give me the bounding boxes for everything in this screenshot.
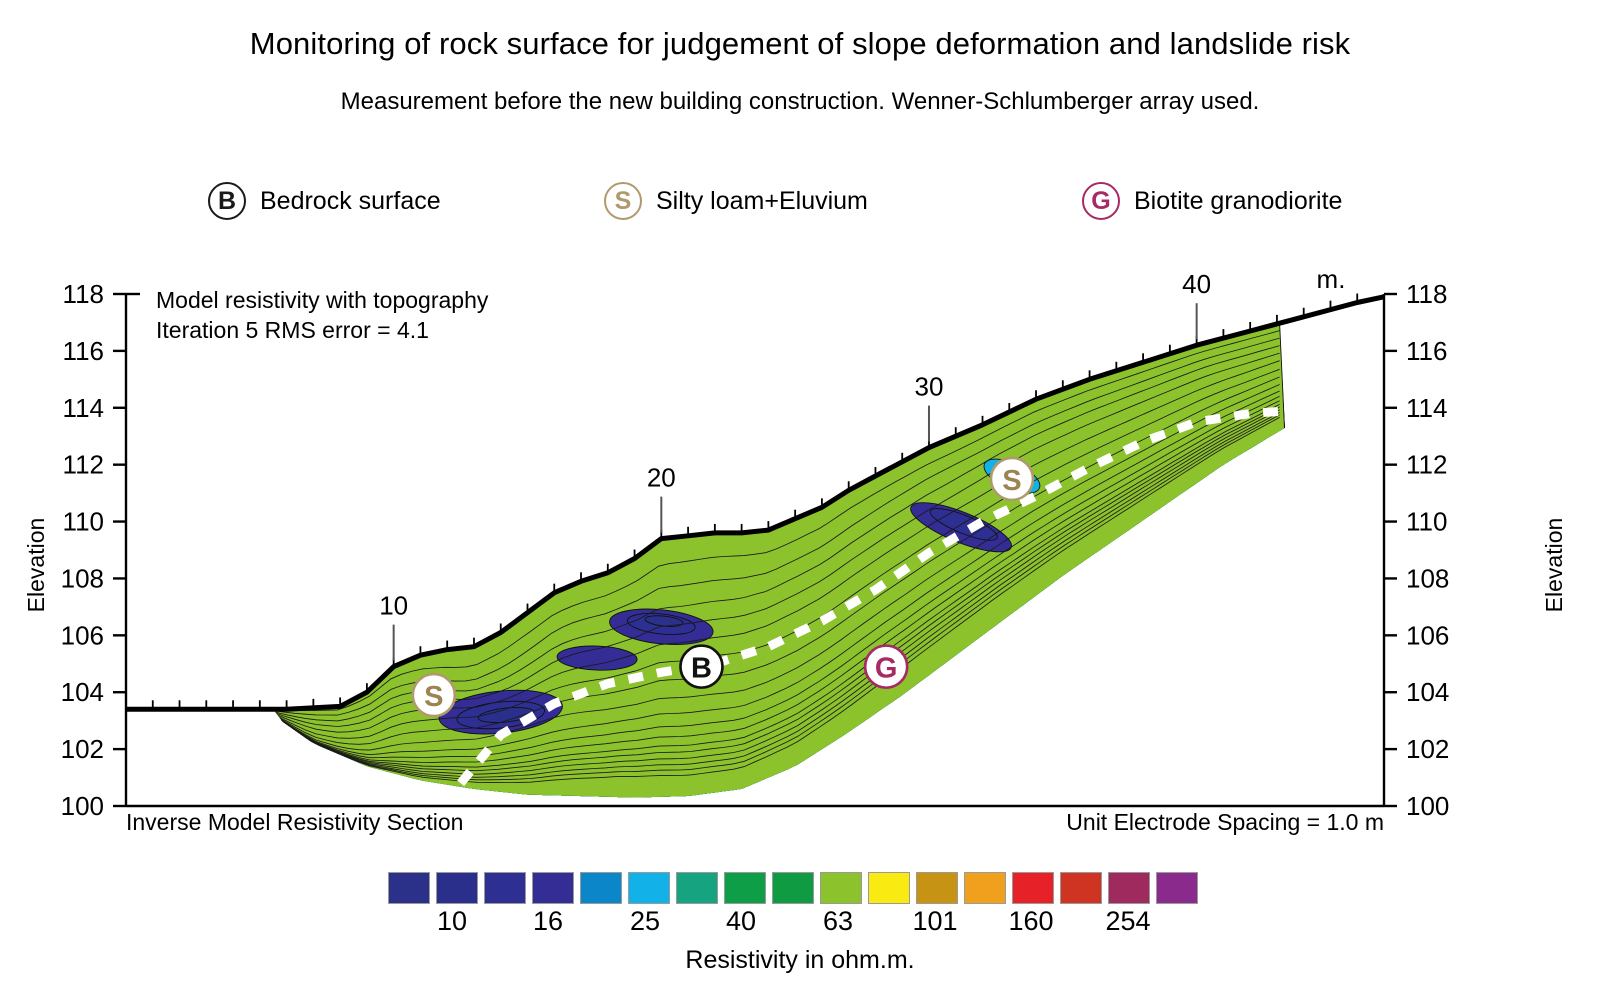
legend-label-silty-loam: Silty loam+Eluvium bbox=[656, 187, 868, 216]
colorbar-swatches bbox=[388, 872, 1198, 904]
colorbar-swatch bbox=[1156, 872, 1198, 904]
annotation-marker-letter: S bbox=[1002, 465, 1021, 497]
colorbar-swatch bbox=[436, 872, 478, 904]
legend: B Bedrock surface S Silty loam+Eluvium G… bbox=[0, 182, 1600, 244]
y-tick-label-left: 112 bbox=[63, 450, 104, 480]
axis-title-left: Elevation bbox=[23, 518, 49, 613]
resistivity-band bbox=[265, 323, 1285, 809]
y-tick-label-left: 114 bbox=[63, 393, 104, 423]
distance-tick-label: 20 bbox=[647, 463, 676, 493]
colorbar-caption: Resistivity in ohm.m. bbox=[0, 946, 1600, 975]
annotation-marker-s: S bbox=[991, 458, 1033, 500]
y-tick-label-right: 106 bbox=[1406, 620, 1449, 650]
figure-root: Monitoring of rock surface for judgement… bbox=[0, 0, 1600, 997]
y-tick-label-left: 100 bbox=[61, 791, 104, 821]
y-tick-label-right: 100 bbox=[1406, 791, 1449, 821]
colorbar-swatch bbox=[772, 872, 814, 904]
y-tick-label-right: 102 bbox=[1406, 734, 1449, 764]
colorbar-tick-label: 40 bbox=[696, 906, 786, 937]
colorbar-tick-label: 10 bbox=[407, 906, 497, 937]
y-tick-label-right: 116 bbox=[1406, 336, 1447, 366]
annotation-marker-letter: S bbox=[424, 681, 443, 713]
colorbar-swatch bbox=[724, 872, 766, 904]
y-tick-label-right: 112 bbox=[1406, 450, 1447, 480]
distance-unit-label: m. bbox=[1317, 264, 1346, 294]
colorbar-swatch bbox=[676, 872, 718, 904]
legend-item-bedrock: B Bedrock surface bbox=[208, 182, 441, 220]
colorbar-swatch bbox=[532, 872, 574, 904]
model-bands bbox=[265, 323, 1285, 809]
footer-left-label: Inverse Model Resistivity Section bbox=[126, 809, 463, 835]
silty-loam-marker-letter: S bbox=[615, 187, 632, 216]
distance-tick-label: 40 bbox=[1182, 269, 1211, 299]
colorbar-swatch bbox=[1108, 872, 1150, 904]
colorbar-tick-label: 254 bbox=[1083, 906, 1173, 937]
annotation-marker-b: B bbox=[680, 646, 722, 688]
colorbar-swatch bbox=[484, 872, 526, 904]
y-tick-label-right: 104 bbox=[1406, 677, 1449, 707]
colorbar-swatch bbox=[628, 872, 670, 904]
legend-item-silty-loam: S Silty loam+Eluvium bbox=[604, 182, 868, 220]
colorbar-tick-labels: 1016254063101160254 bbox=[388, 906, 1178, 940]
y-tick-label-right: 110 bbox=[1406, 507, 1447, 537]
granodiorite-marker-icon: G bbox=[1082, 182, 1120, 220]
distance-tick-label: 30 bbox=[915, 372, 944, 402]
section-svg: 10203040 1001001021021041041061061081081… bbox=[0, 258, 1600, 838]
model-info-line2: Iteration 5 RMS error = 4.1 bbox=[156, 317, 429, 343]
distance-tick-label: 10 bbox=[379, 591, 408, 621]
colorbar-tick-label: 25 bbox=[600, 906, 690, 937]
y-tick-label-left: 110 bbox=[63, 507, 104, 537]
colorbar-swatch bbox=[1012, 872, 1054, 904]
colorbar-swatch bbox=[964, 872, 1006, 904]
colorbar-tick-label: 16 bbox=[503, 906, 593, 937]
y-tick-label-left: 102 bbox=[61, 734, 104, 764]
colorbar-swatch bbox=[388, 872, 430, 904]
legend-label-bedrock: Bedrock surface bbox=[260, 187, 441, 216]
colorbar: 1016254063101160254 Resistivity in ohm.m… bbox=[0, 862, 1600, 982]
legend-label-granodiorite: Biotite granodiorite bbox=[1134, 187, 1342, 216]
model-info-line1: Model resistivity with topography bbox=[156, 287, 489, 313]
axis-title-right: Elevation bbox=[1541, 518, 1567, 613]
y-tick-label-right: 114 bbox=[1406, 393, 1447, 423]
y-tick-label-left: 104 bbox=[61, 677, 104, 707]
figure-title: Monitoring of rock surface for judgement… bbox=[0, 26, 1600, 62]
y-tick-label-left: 108 bbox=[61, 563, 104, 593]
y-tick-label-left: 118 bbox=[63, 279, 104, 309]
colorbar-tick-label: 160 bbox=[986, 906, 1076, 937]
footer-right-label: Unit Electrode Spacing = 1.0 m bbox=[1066, 809, 1384, 835]
annotation-marker-s: S bbox=[413, 674, 455, 716]
colorbar-swatch bbox=[580, 872, 622, 904]
bedrock-marker-icon: B bbox=[208, 182, 246, 220]
y-tick-label-left: 116 bbox=[63, 336, 104, 366]
colorbar-tick-label: 101 bbox=[890, 906, 980, 937]
figure-subtitle: Measurement before the new building cons… bbox=[0, 88, 1600, 116]
annotation-marker-g: G bbox=[865, 646, 907, 688]
colorbar-swatch bbox=[820, 872, 862, 904]
annotation-marker-letter: G bbox=[875, 653, 898, 685]
silty-loam-marker-icon: S bbox=[604, 182, 642, 220]
colorbar-swatch bbox=[868, 872, 910, 904]
annotation-marker-letter: B bbox=[691, 653, 712, 685]
legend-item-granodiorite: G Biotite granodiorite bbox=[1082, 182, 1342, 220]
colorbar-swatch bbox=[1060, 872, 1102, 904]
granodiorite-marker-letter: G bbox=[1091, 187, 1110, 216]
resistivity-model-layer bbox=[265, 323, 1285, 809]
y-tick-label-right: 118 bbox=[1406, 279, 1447, 309]
y-tick-label-left: 106 bbox=[61, 620, 104, 650]
colorbar-tick-label: 63 bbox=[793, 906, 883, 937]
resistivity-section-plot: 10203040 1001001021021041041061061081081… bbox=[0, 258, 1600, 838]
colorbar-swatch bbox=[916, 872, 958, 904]
y-tick-label-right: 108 bbox=[1406, 563, 1449, 593]
bedrock-marker-letter: B bbox=[218, 187, 236, 216]
